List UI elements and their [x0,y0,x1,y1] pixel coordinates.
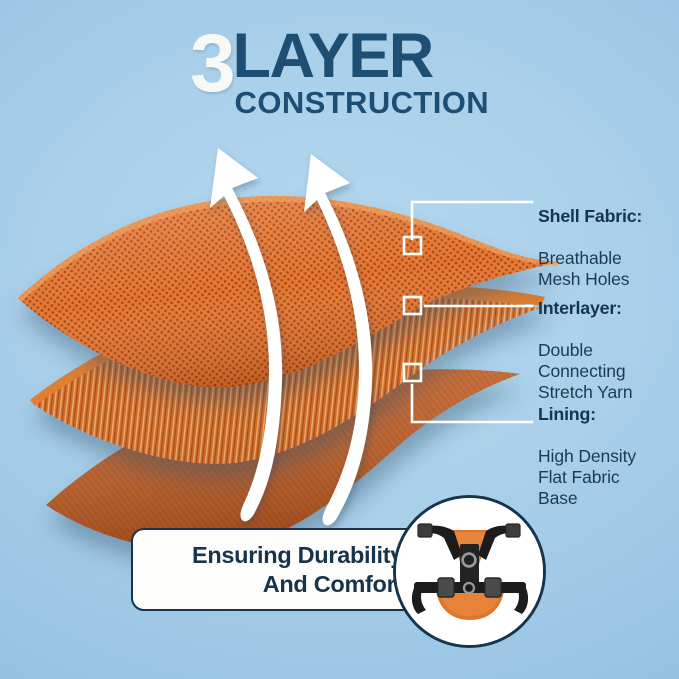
tagline-banner: Ensuring Durability And Comfort [131,528,421,611]
infographic-canvas: 3 LAYER CONSTRUCTION [0,0,679,679]
callout-shell-heading: Shell Fabric: [538,206,642,227]
product-photo-circle[interactable] [393,495,546,648]
callout-lining: Lining: High Density Flat Fabric Base [538,383,636,530]
callout-lining-body: High Density Flat Fabric Base [538,446,636,509]
callout-interlayer-heading: Interlayer: [538,298,632,319]
tagline-text: Ensuring Durability And Comfort [192,541,403,598]
callout-lining-heading: Lining: [538,404,636,425]
dog-harness-photo [396,498,543,645]
